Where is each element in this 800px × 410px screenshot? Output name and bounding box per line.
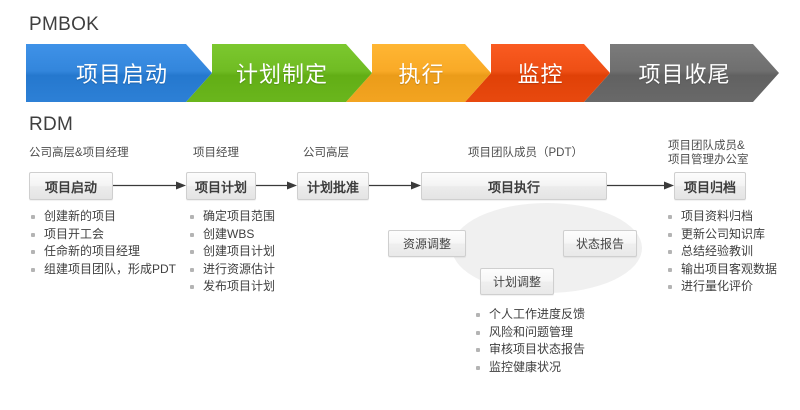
connector-2	[256, 181, 297, 190]
list-item: 进行量化评价	[668, 278, 777, 296]
list-item: 个人工作进度反馈	[476, 306, 585, 324]
node-project-archive[interactable]: 项目归档	[674, 172, 746, 200]
node-status-report[interactable]: 状态报告	[563, 230, 637, 257]
pmbok-phase-label: 监控	[511, 57, 563, 89]
pmbok-phase-5[interactable]: 项目收尾	[584, 44, 779, 102]
list-item: 创建WBS	[190, 226, 275, 244]
list-item: 进行资源估计	[190, 261, 275, 279]
pmbok-phase-2[interactable]: 计划制定	[186, 44, 372, 102]
node-project-execution[interactable]: 项目执行	[421, 172, 607, 200]
list-item: 更新公司知识库	[668, 226, 777, 244]
connector-3	[369, 181, 421, 190]
bullet-list-4: 个人工作进度反馈 风险和问题管理 审核项目状态报告 监控健康状况	[476, 306, 585, 376]
node-project-plan[interactable]: 项目计划	[186, 172, 256, 200]
pmbok-phase-banner: 项目启动计划制定执行监控项目收尾	[26, 44, 778, 102]
connector-1	[113, 181, 186, 190]
list-item: 审核项目状态报告	[476, 341, 585, 359]
list-item: 确定项目范围	[190, 208, 275, 226]
pmbok-phase-label: 计划制定	[230, 57, 328, 89]
column-owner-3: 公司高层	[303, 146, 349, 160]
bullet-list-2: 确定项目范围 创建WBS 创建项目计划 进行资源估计 发布项目计划	[190, 208, 275, 296]
pmbok-section-title: PMBOK	[29, 14, 99, 36]
list-item: 创建项目计划	[190, 243, 275, 261]
column-owner-4: 项目团队成员（PDT）	[468, 146, 583, 160]
list-item: 项目资料归档	[668, 208, 777, 226]
pmbok-phase-label: 项目启动	[70, 57, 168, 89]
list-item: 发布项目计划	[190, 278, 275, 296]
rdm-section-title: RDM	[29, 114, 73, 136]
list-item: 任命新的项目经理	[31, 243, 176, 261]
pmbok-phase-1[interactable]: 项目启动	[26, 44, 212, 102]
node-plan-adjust[interactable]: 计划调整	[480, 268, 554, 295]
column-owner-1: 公司高层&项目经理	[29, 146, 129, 160]
list-item: 总结经验教训	[668, 243, 777, 261]
node-resource-adjust[interactable]: 资源调整	[388, 230, 466, 257]
connector-4	[607, 181, 674, 190]
node-project-initiation[interactable]: 项目启动	[29, 172, 113, 200]
node-plan-approval[interactable]: 计划批准	[297, 172, 369, 200]
bullet-list-1: 创建新的项目 项目开工会 任命新的项目经理 组建项目团队，形成PDT	[31, 208, 176, 278]
list-item: 项目开工会	[31, 226, 176, 244]
bullet-list-5: 项目资料归档 更新公司知识库 总结经验教训 输出项目客观数据 进行量化评价	[668, 208, 777, 296]
list-item: 组建项目团队，形成PDT	[31, 261, 176, 279]
diagram-canvas: PMBOK RDM 项目启动计划制定执行监控项目收尾 公司高层&项目经理 项目经…	[0, 0, 800, 410]
list-item: 输出项目客观数据	[668, 261, 777, 279]
pmbok-phase-label: 执行	[392, 57, 444, 89]
column-owner-5: 项目团队成员& 项目管理办公室	[668, 139, 749, 167]
list-item: 创建新的项目	[31, 208, 176, 226]
list-item: 风险和问题管理	[476, 324, 585, 342]
list-item: 监控健康状况	[476, 359, 585, 377]
column-owner-2: 项目经理	[193, 146, 239, 160]
pmbok-phase-label: 项目收尾	[632, 57, 730, 89]
